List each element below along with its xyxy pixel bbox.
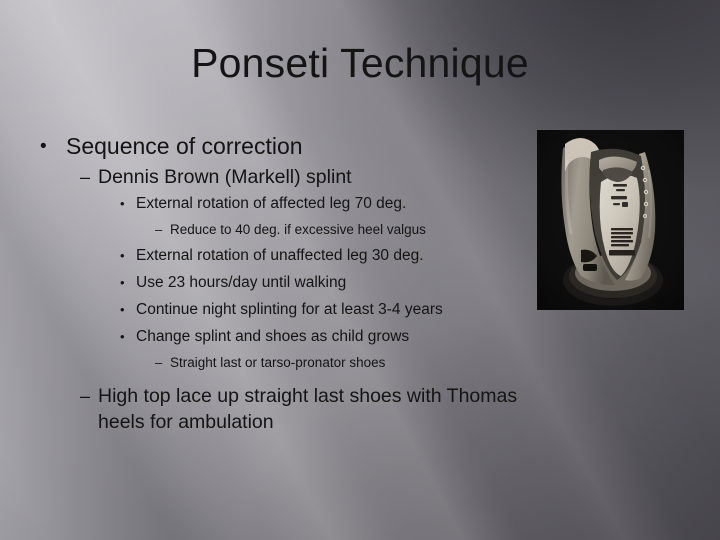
shoe-photo-graphic — [537, 130, 684, 310]
bullet-marker-level4: – — [155, 219, 170, 241]
bullet-marker-level3: • — [120, 192, 136, 216]
outline-text: High top lace up straight last shoes wit… — [98, 383, 534, 435]
bullet-marker-level1: • — [34, 131, 66, 162]
orthopedic-high-top-shoe-photo — [537, 130, 684, 310]
outline-text: Change splint and shoes as child grows — [136, 325, 534, 349]
bullet-marker-level3: • — [120, 298, 136, 322]
presentation-slide: Ponseti Technique • Sequence of correcti… — [0, 0, 720, 540]
bullet-marker-level3: • — [120, 325, 136, 349]
slide-body-outline: • Sequence of correction – Dennis Brown … — [34, 131, 534, 436]
outline-text: Straight last or tarso-pronator shoes — [170, 352, 534, 374]
outline-item-level3: • External rotation of affected leg 70 d… — [34, 192, 534, 216]
bullet-marker-level2: – — [80, 164, 98, 191]
outline-text: Use 23 hours/day until walking — [136, 271, 534, 295]
bullet-marker-level3: • — [120, 244, 136, 268]
outline-item-level1: • Sequence of correction — [34, 131, 534, 162]
outline-text: Continue night splinting for at least 3-… — [136, 298, 534, 322]
bullet-marker-level4: – — [155, 352, 170, 374]
outline-item-level3: • Use 23 hours/day until walking — [34, 271, 534, 295]
bullet-marker-level2: – — [80, 383, 98, 410]
outline-text: Reduce to 40 deg. if excessive heel valg… — [170, 219, 534, 241]
outline-item-level3: • Continue night splinting for at least … — [34, 298, 534, 322]
outline-item-level4: – Straight last or tarso-pronator shoes — [34, 352, 534, 374]
outline-text: External rotation of affected leg 70 deg… — [136, 192, 534, 216]
outline-item-level4: – Reduce to 40 deg. if excessive heel va… — [34, 219, 534, 241]
bullet-marker-level3: • — [120, 271, 136, 295]
outline-item-level2: – High top lace up straight last shoes w… — [34, 383, 534, 435]
outline-item-level3: • External rotation of unaffected leg 30… — [34, 244, 534, 268]
outline-item-level2: – Dennis Brown (Markell) splint — [34, 164, 534, 191]
outline-text: External rotation of unaffected leg 30 d… — [136, 244, 534, 268]
outline-text: Dennis Brown (Markell) splint — [98, 164, 534, 191]
outline-text: Sequence of correction — [66, 131, 534, 162]
outline-item-level3: • Change splint and shoes as child grows — [34, 325, 534, 349]
slide-title: Ponseti Technique — [0, 38, 720, 88]
